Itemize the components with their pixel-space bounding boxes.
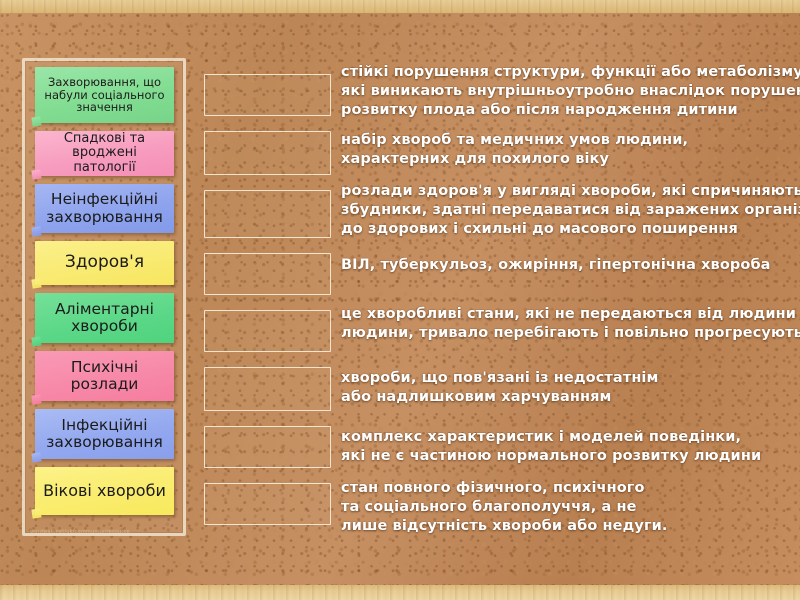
board-frame-bottom <box>0 585 800 600</box>
draggable-note-8[interactable]: Вікові хвороби <box>35 467 174 515</box>
definition-text-2: набір хвороб та медичних умов людини, ха… <box>341 131 777 169</box>
note-label: Інфекційні захворювання <box>46 417 163 452</box>
definition-text-3: розлади здоров'я у вигляді хвороби, які … <box>341 182 777 239</box>
drop-zone-8[interactable] <box>204 483 331 525</box>
draggable-note-5[interactable]: Аліментарні хвороби <box>35 293 174 343</box>
drop-zone-1[interactable] <box>204 74 331 116</box>
note-label: Захворювання, що набули соціального знач… <box>44 76 164 115</box>
draggable-note-7[interactable]: Інфекційні захворювання <box>35 409 174 459</box>
drop-zone-2[interactable] <box>204 131 331 175</box>
definition-text-4: ВІЛ, туберкульоз, ожиріння, гіпертонічна… <box>341 256 777 275</box>
note-label: Неінфекційні захворювання <box>46 191 163 226</box>
board-frame-top <box>0 0 800 13</box>
note-label: Вікові хвороби <box>43 482 166 500</box>
drop-zone-3[interactable] <box>204 190 331 238</box>
note-label: Психічні розлади <box>71 359 139 394</box>
note-label: Спадкові та вроджені патології <box>40 132 169 176</box>
definition-text-5: це хворобливі стани, які не передаються … <box>341 305 777 343</box>
drop-zone-6[interactable] <box>204 367 331 411</box>
definition-text-7: комплекс характеристик і моделей поведін… <box>341 428 777 466</box>
draggable-note-2[interactable]: Спадкові та вроджені патології <box>35 131 174 176</box>
note-label: Аліментарні хвороби <box>55 301 154 336</box>
definition-text-1: стійкі порушення структури, функції або … <box>341 63 777 120</box>
drop-zone-4[interactable] <box>204 253 331 295</box>
drop-zone-7[interactable] <box>204 426 331 468</box>
matching-activity-board: Захворювання, що набули соціального знач… <box>0 0 800 600</box>
draggable-note-6[interactable]: Психічні розлади <box>35 351 174 401</box>
definition-text-8: стан повного фізичного, психічного та со… <box>341 479 777 536</box>
definition-text-6: хвороби, що пов'язані із недостатнім або… <box>341 369 777 407</box>
note-label: Здоров'я <box>65 253 144 272</box>
drop-zone-5[interactable] <box>204 310 331 352</box>
draggable-note-3[interactable]: Неінфекційні захворювання <box>35 184 174 233</box>
draggable-note-4[interactable]: Здоров'я <box>35 241 174 285</box>
draggable-notes-panel: Захворювання, що набули соціального знач… <box>22 58 186 536</box>
draggable-note-1[interactable]: Захворювання, що набули соціального знач… <box>35 67 174 123</box>
